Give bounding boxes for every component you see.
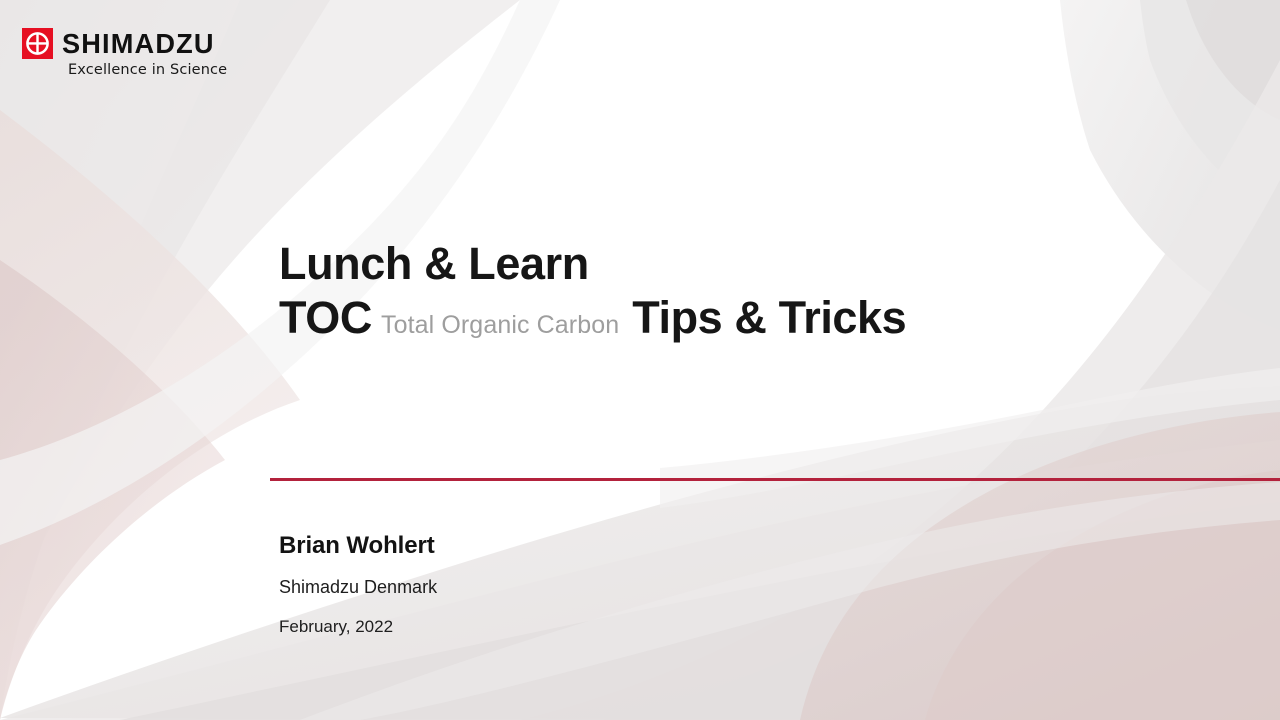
red-horizontal-rule: [270, 478, 1280, 481]
title-acronym-expansion: Total Organic Carbon: [372, 311, 626, 339]
title-line-primary: Lunch & Learn: [279, 241, 906, 286]
presentation-date: February, 2022: [279, 618, 437, 635]
title-slide: SHIMADZU Excellence in Science Lunch & L…: [0, 0, 1280, 720]
shimadzu-wordmark: SHIMADZU: [62, 30, 215, 58]
title-suffix: Tips & Tricks: [626, 292, 906, 343]
presenter-info: Brian Wohlert Shimadzu Denmark February,…: [279, 534, 437, 635]
title-line-secondary: TOCTotal Organic CarbonTips & Tricks: [279, 295, 906, 340]
slide-title: Lunch & Learn TOCTotal Organic CarbonTip…: [279, 241, 906, 340]
shimadzu-tagline: Excellence in Science: [68, 62, 227, 78]
title-acronym: TOC: [279, 292, 372, 343]
presenter-name: Brian Wohlert: [279, 534, 437, 558]
shimadzu-logo: SHIMADZU Excellence in Science: [22, 28, 227, 78]
logo-row: SHIMADZU: [22, 28, 219, 59]
abstract-swoosh-background: [0, 0, 1280, 720]
shimadzu-circle-cross-logo-icon: [22, 28, 53, 59]
presenter-organization: Shimadzu Denmark: [279, 578, 437, 596]
